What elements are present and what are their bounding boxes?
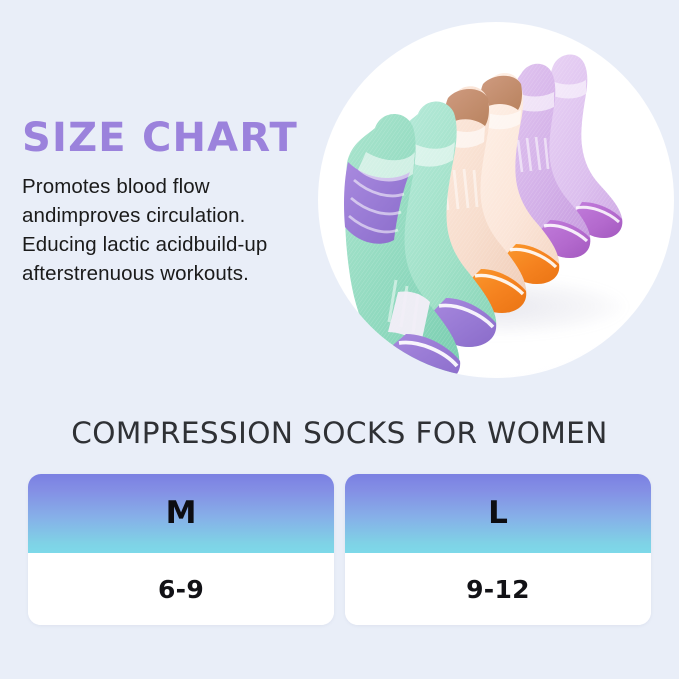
description-line-4: afterstrenuous workouts.	[22, 259, 322, 288]
product-photo	[318, 22, 674, 378]
product-photo-circle	[318, 22, 674, 378]
chart-heading: COMPRESSION SOCKS FOR WOMEN	[0, 416, 679, 450]
description-line-1: Promotes blood flow	[22, 172, 322, 201]
size-card-m-header: M	[28, 474, 334, 553]
page-title: SIZE CHART	[22, 118, 322, 158]
size-card-l-label: L	[488, 498, 508, 529]
size-card-m-label: M	[166, 498, 197, 529]
description-line-3: Educing lactic acidbuild-up	[22, 230, 322, 259]
hero-section: SIZE CHART Promotes blood flow andimprov…	[0, 0, 679, 398]
socks-illustration	[318, 22, 674, 378]
size-card-l-range: 9-12	[466, 575, 530, 604]
size-card-l[interactable]: L 9-12	[345, 474, 651, 625]
size-card-l-header: L	[345, 474, 651, 553]
size-card-m-body: 6-9	[28, 553, 334, 625]
size-cards-row: M 6-9 L 9-12	[28, 474, 651, 625]
size-chart-section: COMPRESSION SOCKS FOR WOMEN M 6-9 L 9-12	[0, 398, 679, 679]
size-card-l-body: 9-12	[345, 553, 651, 625]
size-card-m-range: 6-9	[158, 575, 204, 604]
marketing-copy-block: SIZE CHART Promotes blood flow andimprov…	[22, 118, 322, 288]
infographic-page: SIZE CHART Promotes blood flow andimprov…	[0, 0, 679, 679]
description-line-2: andimproves circulation.	[22, 201, 322, 230]
size-card-m[interactable]: M 6-9	[28, 474, 334, 625]
